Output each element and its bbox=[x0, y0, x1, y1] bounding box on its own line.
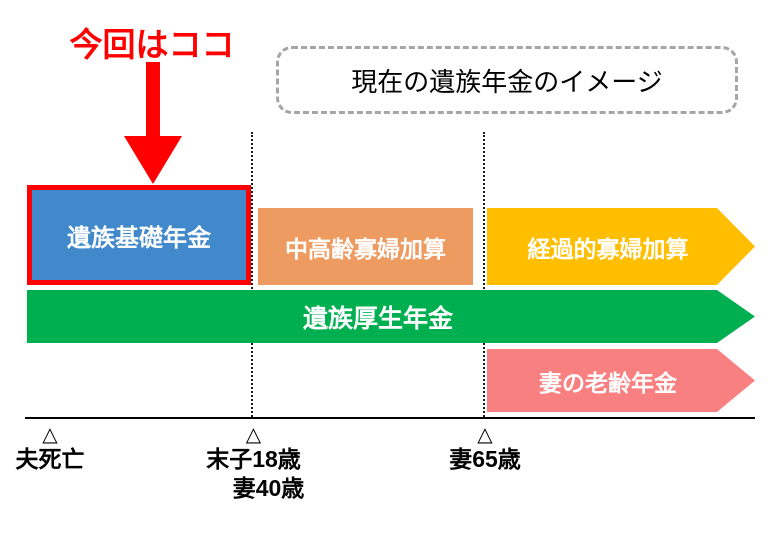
guide-line-2 bbox=[483, 132, 485, 417]
tick-label-child18: 末子18歳 bbox=[196, 447, 311, 472]
diagram-title: 現在の遺族年金のイメージ bbox=[351, 62, 662, 99]
guide-line-1 bbox=[251, 132, 253, 417]
pension-diagram: 今回はココ 現在の遺族年金のイメージ 遺族基礎年金 中高齢寡婦加算 経過的寡婦加… bbox=[0, 0, 779, 538]
tick-wife65: △ 妻65歳 bbox=[430, 425, 540, 472]
tick-child18-wife40: △ 末子18歳 妻40歳 bbox=[196, 425, 311, 502]
bar-izoku-kosei-nenkin: 遺族厚生年金 bbox=[27, 290, 755, 343]
bar-izoku-kiso-nenkin: 遺族基礎年金 bbox=[27, 185, 251, 285]
bar-label-izoku-kosei-nenkin: 遺族厚生年金 bbox=[27, 299, 755, 335]
tick-label-wife65: 妻65歳 bbox=[430, 447, 540, 472]
bar-keikateki-kafu-kasan: 経過的寡婦加算 bbox=[487, 208, 755, 285]
tick-husband-death: △ 夫死亡 bbox=[0, 425, 100, 472]
bar-label-keikateki-kafu-kasan: 経過的寡婦加算 bbox=[487, 230, 755, 264]
bar-label-chukorei-kafu-kasan: 中高齢寡婦加算 bbox=[285, 230, 446, 264]
triangle-marker-icon: △ bbox=[0, 425, 100, 445]
diagram-title-box: 現在の遺族年金のイメージ bbox=[276, 46, 738, 114]
triangle-marker-icon: △ bbox=[430, 425, 540, 445]
tick-label-wife40: 妻40歳 bbox=[196, 476, 311, 501]
down-arrow-icon bbox=[120, 62, 186, 186]
bar-tsuma-no-rorei-nenkin: 妻の老齢年金 bbox=[487, 349, 755, 412]
tick-label-husband-death: 夫死亡 bbox=[0, 447, 100, 472]
timeline-axis bbox=[25, 417, 755, 419]
bar-label-izoku-kiso-nenkin: 遺族基礎年金 bbox=[67, 218, 211, 253]
bar-chukorei-kafu-kasan: 中高齢寡婦加算 bbox=[258, 208, 473, 285]
triangle-marker-icon: △ bbox=[196, 425, 311, 445]
annotation-label: 今回はココ bbox=[52, 18, 252, 66]
bar-label-tsuma-no-rorei-nenkin: 妻の老齢年金 bbox=[487, 364, 755, 398]
